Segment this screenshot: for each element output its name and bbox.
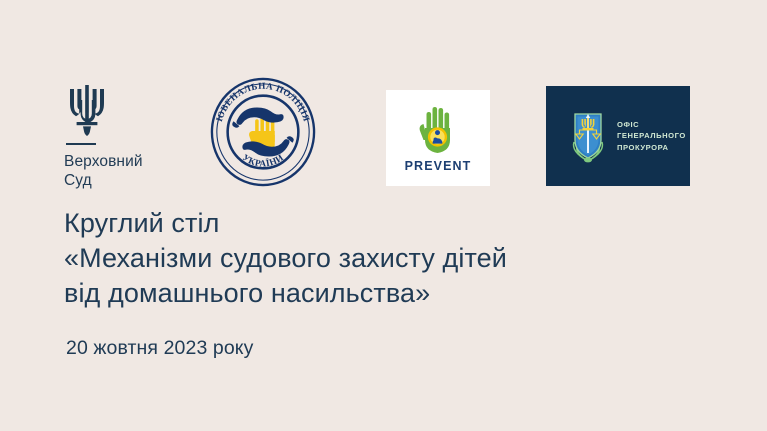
logo-prosecutor-general: ОФІС ГЕНЕРАЛЬНОГО ПРОКУРОРА bbox=[546, 86, 690, 186]
partner-logo-strip: Верховний Суд ЮВЕНАЛЬНА ПОЛІЦІЯ bbox=[0, 76, 767, 196]
ukraine-trident-icon bbox=[64, 82, 110, 134]
page-title: Круглий стіл «Механізми судового захисту… bbox=[64, 206, 507, 311]
juvenile-police-badge-icon: ЮВЕНАЛЬНА ПОЛІЦІЯ УКРАЇНИ bbox=[208, 76, 318, 188]
prosecutor-general-panel: ОФІС ГЕНЕРАЛЬНОГО ПРОКУРОРА bbox=[546, 86, 690, 186]
prevent-label: PREVENT bbox=[405, 159, 472, 173]
supreme-court-divider bbox=[66, 143, 96, 145]
prevent-card: PREVENT bbox=[386, 90, 490, 186]
prosecutor-general-emblem-icon bbox=[568, 108, 608, 164]
prevent-green-hand-icon bbox=[416, 104, 460, 154]
presentation-slide: Верховний Суд ЮВЕНАЛЬНА ПОЛІЦІЯ bbox=[0, 0, 767, 431]
prosecutor-general-label: ОФІС ГЕНЕРАЛЬНОГО ПРОКУРОРА bbox=[617, 119, 686, 154]
logo-prevent: PREVENT bbox=[386, 90, 490, 186]
event-date: 20 жовтня 2023 року bbox=[66, 336, 254, 360]
supreme-court-label: Верховний Суд bbox=[64, 152, 194, 190]
logo-supreme-court: Верховний Суд bbox=[64, 82, 194, 190]
logo-juvenile-police: ЮВЕНАЛЬНА ПОЛІЦІЯ УКРАЇНИ bbox=[208, 76, 320, 190]
